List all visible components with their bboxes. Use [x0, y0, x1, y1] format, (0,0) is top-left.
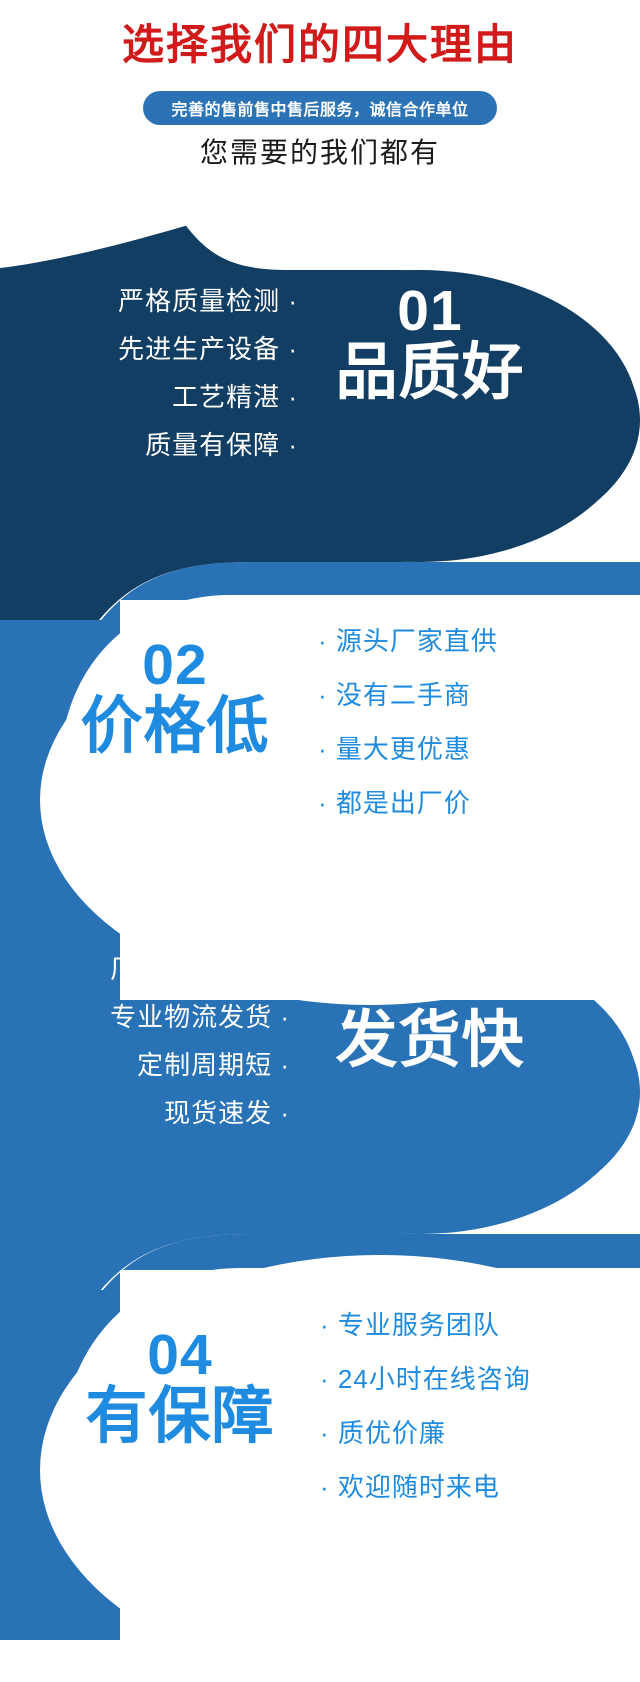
bullet-item: 定制周期短 · [137, 1052, 290, 1078]
bullet-item: 现货速发 · [164, 1100, 290, 1126]
bullet-item: 严格质量检测 · [118, 288, 298, 314]
bullet-item: · 专业服务团队 [320, 1312, 500, 1338]
bullet-item: · 欢迎随时来电 [320, 1474, 500, 1500]
section-keyword: 发货快 [300, 1010, 560, 1072]
section-keyword: 品质好 [300, 342, 560, 404]
section-number: 03 [300, 952, 560, 1006]
section-04: 04 有保障 · 专业服务团队 · 24小时在线咨询 · 质优价廉 · 欢迎随时… [0, 1296, 640, 1586]
header: 选择我们的四大理由 完善的售前售中售后服务，诚信合作单位 您需要的我们都有 [0, 0, 640, 185]
section-02-bullets: · 源头厂家直供 · 没有二手商 · 量大更优惠 · 都是出厂价 [318, 628, 598, 816]
bullet-item: · 质优价廉 [320, 1420, 446, 1446]
bullet-item: 厂家库存充足 · [110, 956, 290, 982]
section-03-heading: 03 发货快 [300, 952, 560, 1072]
bullet-item: 专业物流发货 · [110, 1004, 290, 1030]
bottom-white-strip [0, 1640, 640, 1682]
bullet-item: 先进生产设备 · [118, 336, 298, 362]
section-keyword: 价格低 [50, 696, 300, 758]
section-03: 厂家库存充足 · 专业物流发货 · 定制周期短 · 现货速发 · 03 发货快 [0, 952, 640, 1212]
bullet-item: · 没有二手商 [318, 682, 471, 708]
section-02: 02 价格低 · 源头厂家直供 · 没有二手商 · 量大更优惠 · 都是出厂价 [0, 620, 640, 880]
bullet-item: · 都是出厂价 [318, 790, 471, 816]
section-03-bullets: 厂家库存充足 · 专业物流发货 · 定制周期短 · 现货速发 · [28, 956, 290, 1126]
header-badge: 完善的售前售中售后服务，诚信合作单位 [143, 91, 497, 125]
bullet-item: · 24小时在线咨询 [320, 1366, 531, 1392]
page-title: 选择我们的四大理由 [0, 22, 640, 68]
infographic-page: 选择我们的四大理由 完善的售前售中售后服务，诚信合作单位 您需要的我们都有 严格… [0, 0, 640, 1682]
section-number: 01 [300, 284, 560, 338]
section-04-bullets: · 专业服务团队 · 24小时在线咨询 · 质优价廉 · 欢迎随时来电 [320, 1312, 610, 1500]
section-04-heading: 04 有保障 [55, 1328, 305, 1448]
section-01: 严格质量检测 · 先进生产设备 · 工艺精湛 · 质量有保障 · 01 品质好 [0, 282, 640, 542]
bullet-item: · 源头厂家直供 [318, 628, 498, 654]
page-subtitle: 您需要的我们都有 [0, 131, 640, 171]
section-number: 02 [50, 638, 300, 692]
bullet-item: · 量大更优惠 [318, 736, 471, 762]
bullet-item: 质量有保障 · [145, 432, 298, 458]
section-01-heading: 01 品质好 [300, 284, 560, 404]
section-01-bullets: 严格质量检测 · 先进生产设备 · 工艺精湛 · 质量有保障 · [48, 288, 298, 458]
section-number: 04 [55, 1328, 305, 1382]
section-02-heading: 02 价格低 [50, 638, 300, 758]
bullet-item: 工艺精湛 · [172, 384, 298, 410]
section-keyword: 有保障 [55, 1386, 305, 1448]
